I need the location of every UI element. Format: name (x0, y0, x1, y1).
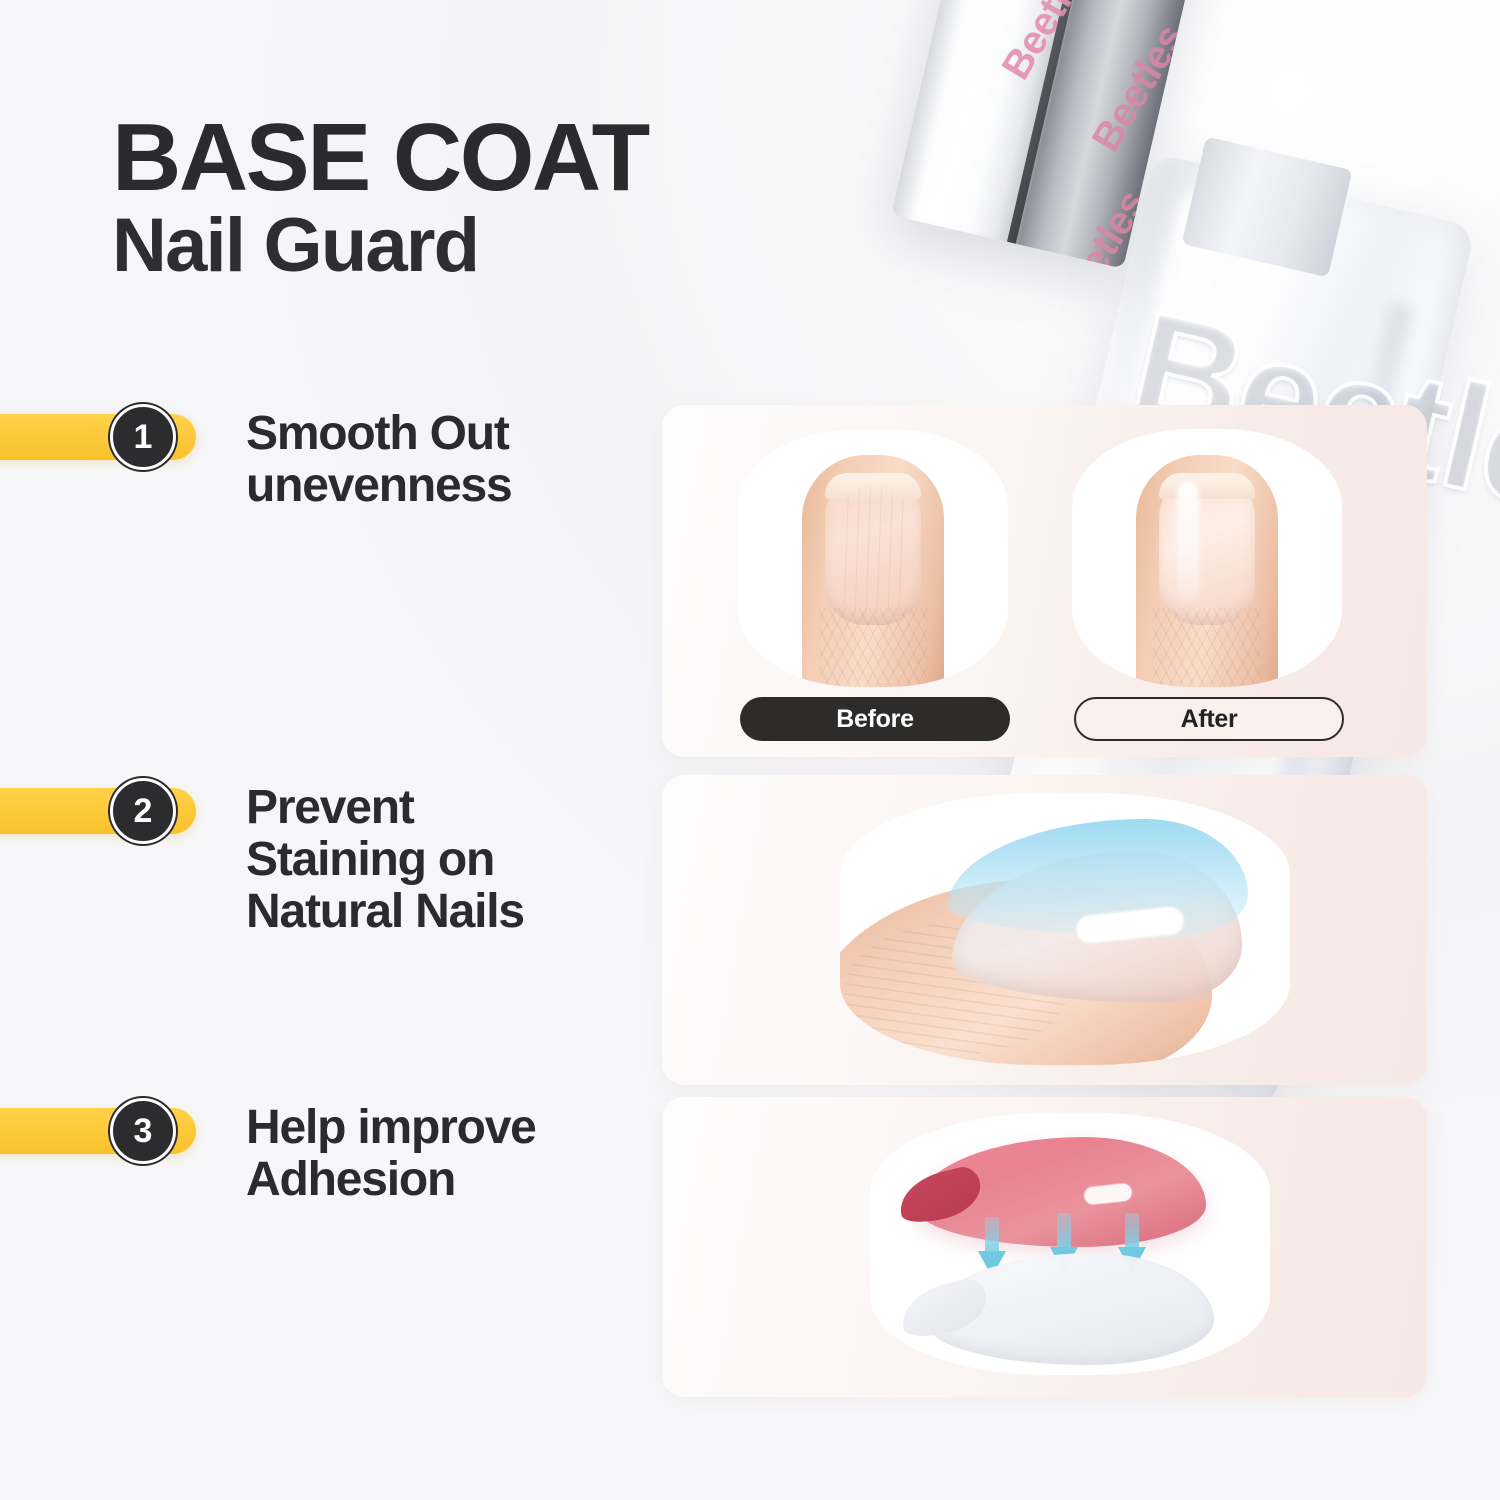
feature-text-line: Smooth Out (246, 408, 511, 460)
cap-edge-shadow (1007, 0, 1160, 244)
bottle-neck (1182, 137, 1353, 278)
arrow-shaft (1057, 1213, 1071, 1251)
nail-ridges (837, 487, 909, 615)
feature-number-badge: 2 (110, 778, 176, 844)
arrow-shaft (985, 1217, 999, 1255)
feature-item-3: 3 Help improve Adhesion (0, 1098, 536, 1206)
feature-item-1: 1 Smooth Out unevenness (0, 404, 511, 512)
feature-text-line: Staining on (246, 834, 524, 886)
feature-text-line: Natural Nails (246, 886, 524, 938)
before-photo-frame (738, 429, 1008, 687)
cap-brand-text: Beetles (994, 0, 1103, 87)
cap-brand-text: Beetles (1045, 183, 1154, 269)
card-before-after: Before After (662, 405, 1427, 757)
feature-marker-1: 1 (0, 404, 196, 466)
arrow-shaft (1125, 1213, 1139, 1251)
feature-marker-2: 2 (0, 778, 196, 840)
feature-number-badge: 3 (110, 1098, 176, 1164)
fingertip-after-image (1136, 455, 1278, 687)
cap-brand-text: Beetles (1084, 17, 1193, 159)
cap-brand-label: Beetles (1084, 17, 1194, 159)
feature-text-line: Help improve (246, 1102, 536, 1154)
feature-item-2: 2 Prevent Staining on Natural Nails (0, 778, 524, 937)
adhesion-illustration-frame (870, 1113, 1270, 1375)
fingertip-before-image (802, 455, 944, 687)
headline-block: BASE COAT Nail Guard (112, 112, 812, 284)
feature-marker-3: 3 (0, 1098, 196, 1160)
feature-text-3: Help improve Adhesion (246, 1098, 536, 1206)
nail-plate-before (825, 473, 921, 625)
page-subtitle: Nail Guard (112, 208, 812, 284)
page-title: BASE COAT (112, 112, 812, 204)
feature-number-badge: 1 (110, 404, 176, 470)
nail-tip (1159, 473, 1255, 499)
nail-gloss-highlight (1177, 481, 1199, 601)
product-infographic: Beetles CO 0.51 fl.o Beetles® Beetles Be… (0, 0, 1500, 1500)
feature-text-2: Prevent Staining on Natural Nails (246, 778, 524, 937)
feature-text-line: Adhesion (246, 1154, 536, 1206)
feature-text-line: unevenness (246, 460, 511, 512)
feature-text-line: Prevent (246, 782, 524, 834)
card-prevent-staining (662, 775, 1427, 1085)
cap-brand-label: Beetles (994, 0, 1104, 87)
after-photo-frame (1072, 429, 1342, 687)
after-label: After (1074, 697, 1344, 741)
coating-illustration-frame (840, 793, 1290, 1065)
gel-highlight (1083, 1183, 1133, 1206)
nail-plate-after (1159, 473, 1255, 625)
feature-text-1: Smooth Out unevenness (246, 404, 511, 512)
before-label: Before (740, 697, 1010, 741)
cap-highlight (913, 0, 1090, 228)
card-improve-adhesion (662, 1097, 1427, 1397)
bottle-cap: Beetles® Beetles Beetles Beetles (891, 0, 1267, 269)
cap-brand-label: Beetles (1045, 183, 1155, 269)
